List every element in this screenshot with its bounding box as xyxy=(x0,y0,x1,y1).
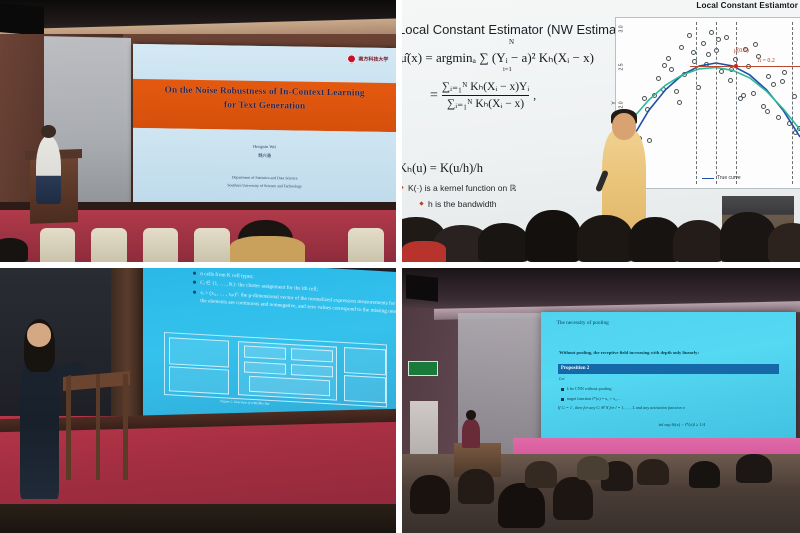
proposition-header: Proposition 2 xyxy=(558,364,780,374)
slide-author: Hongxin Wei 魏兴鑫 xyxy=(143,141,385,162)
fraction-numerator: ∑ᵢ₌₁ᴺ Kₕ(Xᵢ − x)Yᵢ xyxy=(442,80,529,94)
slide-top-area xyxy=(133,44,396,83)
annotation-bandwidth: h = 0.2 xyxy=(758,58,775,64)
speaker-head xyxy=(27,323,52,346)
chair xyxy=(194,228,230,262)
logo-text: 南方科技大学 xyxy=(358,55,388,62)
audience-head xyxy=(553,477,593,519)
audience-head xyxy=(410,475,450,515)
slide-title: On the Noise Robustness of In-Context Le… xyxy=(143,83,385,113)
speaker-figure xyxy=(36,136,62,204)
slide-lead-text: Without pooling, the receptive field inc… xyxy=(559,350,699,355)
vertical-dash xyxy=(716,22,717,184)
equation-kernel: Kₕ(u) = K(u/h)/h xyxy=(402,160,483,176)
podium xyxy=(63,374,130,480)
legend-label: True curve xyxy=(717,175,741,181)
chair xyxy=(348,228,384,262)
chair xyxy=(91,228,127,262)
audience-head xyxy=(736,454,772,483)
figure-caption: Figure 1: Overview of scRCMix-Net xyxy=(220,399,269,406)
equation-argmin-text: μ̂(x) = argminₐ ∑ (Yᵢ − a)² Kₕ(Xᵢ − x) xyxy=(402,50,594,65)
audience-head xyxy=(525,210,581,262)
slide-bullet: fₗ be CNN without pooling xyxy=(567,386,612,391)
audience-head xyxy=(673,220,725,262)
fitted-curves xyxy=(630,22,800,184)
audience-head xyxy=(458,469,494,503)
vertical-dash xyxy=(792,22,793,184)
bullet-bandwidth-text: h is the bandwidth xyxy=(428,199,497,209)
horizontal-reference-line xyxy=(690,66,800,67)
logo-mark-icon xyxy=(347,54,356,63)
figure-block xyxy=(169,338,229,369)
legend-swatch xyxy=(702,178,714,179)
slide-running-header: Local Constant Estiamtor xyxy=(696,1,798,10)
sum-lower-limit: i=1 xyxy=(503,66,512,73)
y-tick: 2.5 xyxy=(618,64,624,71)
equation-argmin: μ̂(x) = argminₐ ∑ (Yᵢ − a)² Kₕ(Xᵢ − x) xyxy=(402,50,594,66)
y-axis-label: Y xyxy=(612,101,618,104)
fraction-denominator: ∑ᵢ₌₁ᴺ Kₕ(Xᵢ − x) xyxy=(447,97,524,111)
audience-body xyxy=(230,236,305,262)
slide-let-text: Let xyxy=(559,376,564,381)
equation-fraction: = ∑ᵢ₌₁ᴺ Kₕ(Xᵢ − x)Yᵢ ∑ᵢ₌₁ᴺ Kₕ(Xᵢ − x) , xyxy=(430,80,536,112)
vertical-dash xyxy=(736,22,737,184)
slide-equation: inf sup ‖fₗ(x) − f*(x)‖ ≥ 1/4 xyxy=(658,422,705,428)
podium-leg xyxy=(96,374,101,480)
panel-title-slide-photo: 南方科技大学 On the Noise Robustness of In-Con… xyxy=(0,0,396,262)
y-tick: 2.0 xyxy=(618,102,624,109)
vertical-dash xyxy=(696,22,697,184)
speaker-figure xyxy=(462,419,480,448)
ceiling-speaker-icon xyxy=(0,3,44,36)
audience-head xyxy=(637,459,669,486)
slide-title: Local Constant Estimator (NW Estimator) xyxy=(402,22,636,37)
exit-sign-icon xyxy=(408,361,438,376)
plot-area: Y 3.0 2.5 2.0 1.5 1.0 μ̂(0.5) h = 0.2 xyxy=(630,22,799,184)
fraction-bar xyxy=(442,95,529,96)
audience-head xyxy=(577,456,609,480)
period: , xyxy=(533,90,536,102)
bullet-kernel-text: K(·) is a kernel function on ℝ xyxy=(408,183,516,193)
speaker-figure xyxy=(20,342,60,498)
university-logo: 南方科技大学 xyxy=(347,54,388,64)
audience-head xyxy=(0,238,28,262)
slide-bullet-bandwidth: h is the bandwidth xyxy=(428,199,497,209)
audience-head xyxy=(525,461,557,488)
audience-head xyxy=(577,215,633,262)
y-tick: 3.0 xyxy=(618,26,624,33)
speaker-head xyxy=(612,113,636,140)
photo-collage: 南方科技大学 On the Noise Robustness of In-Con… xyxy=(0,0,800,533)
ceiling-speaker-icon xyxy=(406,274,438,301)
figure-block xyxy=(343,375,385,403)
figure-block xyxy=(169,366,229,394)
audience-head xyxy=(498,483,546,528)
figure-block xyxy=(343,347,385,375)
chair xyxy=(143,228,179,262)
audience-body xyxy=(402,241,446,262)
slide-figure xyxy=(163,333,386,408)
sum-upper-limit: N xyxy=(509,38,514,46)
projection-screen: 南方科技大学 On the Noise Robustness of In-Con… xyxy=(133,44,396,216)
stage-front xyxy=(0,504,396,533)
annotation-mu-hat: μ̂(0.5) xyxy=(734,48,749,54)
slide-bullet-kernel: K(·) is a kernel function on ℝ xyxy=(408,183,516,194)
audience-head xyxy=(478,223,530,262)
podium-leg xyxy=(123,374,128,480)
estimate-point-marker xyxy=(734,64,738,68)
audience-head xyxy=(689,461,721,488)
slide-title: The necessity of pooling xyxy=(557,320,609,326)
equals-sign: = xyxy=(430,88,438,104)
panel-pooling-proposition-photo: The necessity of pooling Without pooling… xyxy=(402,268,800,533)
panel-nw-estimator-photo: Local Constant Estiamtor Local Constant … xyxy=(402,0,800,262)
slide-bullet-list: n cells from K cell types; Cᵢ ∈ {1, … , … xyxy=(153,268,396,320)
slide-condition-text: If Cₗ = 1 , then for any Cₗ ∈ N for l = … xyxy=(558,405,685,410)
panel-single-cell-photo: n cells from K cell types; Cᵢ ∈ {1, … , … xyxy=(0,268,396,533)
projection-screen: The necessity of pooling Without pooling… xyxy=(541,312,796,450)
fraction: ∑ᵢ₌₁ᴺ Kₕ(Xᵢ − x)Yᵢ ∑ᵢ₌₁ᴺ Kₕ(Xᵢ − x) xyxy=(442,80,529,112)
audience-head xyxy=(768,223,800,262)
speaker-head xyxy=(466,410,476,420)
chart-legend: True curve xyxy=(702,175,741,181)
podium-leg xyxy=(66,374,71,480)
slide-bullet: target function f*(x) = x₁ + x₂ … xyxy=(567,396,622,401)
chair xyxy=(40,228,76,262)
chair-row xyxy=(0,228,396,262)
